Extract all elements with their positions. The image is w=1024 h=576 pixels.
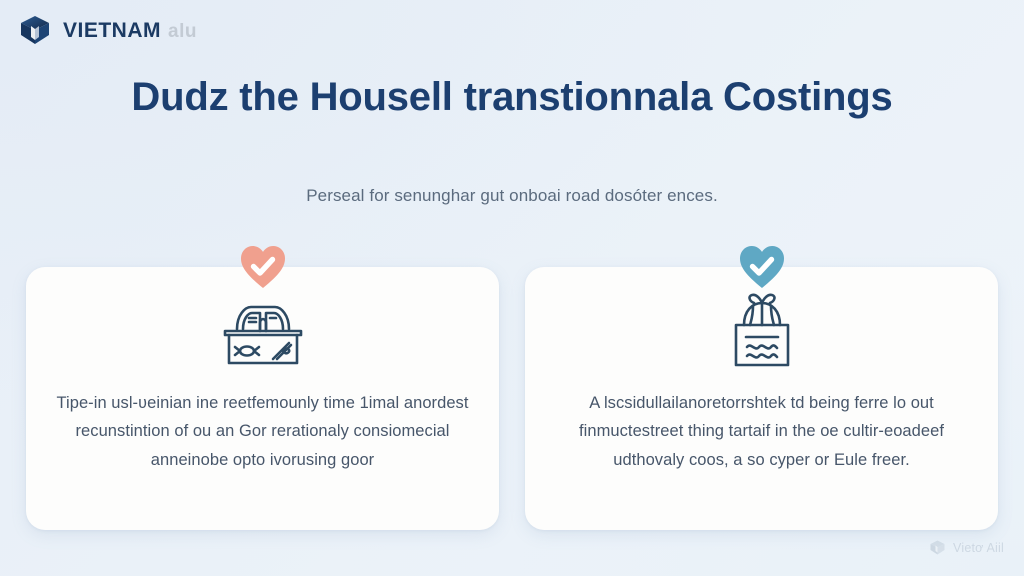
page-title: Dudz the Housell transtionnala Costings (0, 70, 1024, 125)
brand-suffix: alu (168, 22, 197, 41)
feature-card-text: A lscsidullailanoretorrshtek td being fe… (525, 389, 998, 474)
feature-card-text: Tipe-in usl-ʋeinian ine reetfemounly tim… (26, 389, 499, 474)
feature-card[interactable]: A lscsidullailanoretorrshtek td being fe… (525, 267, 998, 530)
slide-canvas: VIETNAM alu Dudz the Housell transtionna… (0, 0, 1024, 576)
watermark: Vietơ Aiil (929, 539, 1004, 556)
cube-logo-icon (18, 13, 52, 47)
watermark-label: Vietơ Aiil (953, 541, 1004, 555)
brand-name: VIETNAM (63, 20, 161, 41)
brand-logo[interactable]: VIETNAM alu (18, 13, 197, 47)
heart-check-badge-icon (239, 244, 287, 290)
open-box-crate-icon (217, 289, 309, 373)
heart-check-badge-icon (738, 244, 786, 290)
cube-logo-icon (929, 539, 946, 556)
feature-card-list: Tipe-in usl-ʋeinian ine reetfemounly tim… (26, 267, 998, 530)
feature-card[interactable]: Tipe-in usl-ʋeinian ine reetfemounly tim… (26, 267, 499, 530)
page-subtitle: Perseal for senunghar gut onboai road do… (0, 186, 1024, 206)
gift-bag-icon (716, 289, 808, 373)
